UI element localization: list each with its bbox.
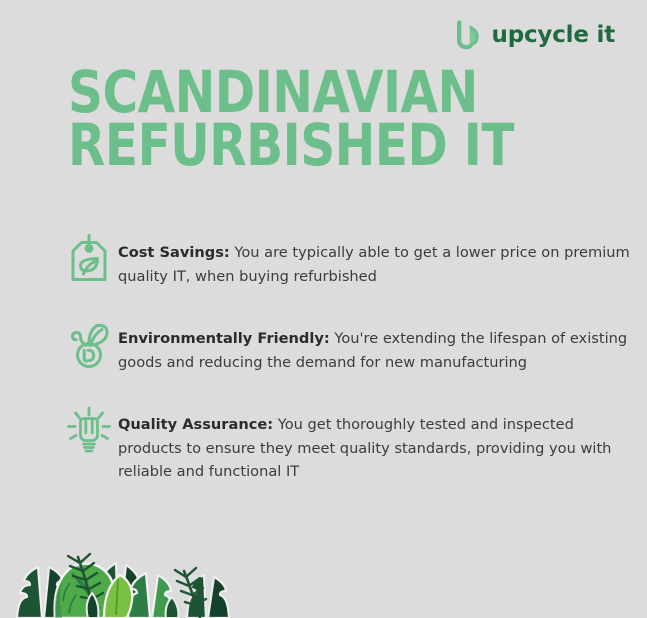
list-item-lead: Environmentally Friendly: [118,330,330,347]
list-item: Quality Assurance: You get thoroughly te… [60,404,630,484]
feature-list: Cost Savings: You are typically able to … [60,232,630,512]
list-item: Environmentally Friendly: You're extendi… [60,318,630,376]
list-item-text: Environmentally Friendly: You're extendi… [118,318,630,374]
list-item: Cost Savings: You are typically able to … [60,232,630,290]
page-title: Scandinavian Refurbished IT [68,66,548,173]
price-tag-leaf-icon [60,232,118,290]
list-item-text: Quality Assurance: You get thoroughly te… [118,404,630,484]
list-item-lead: Quality Assurance: [118,416,273,433]
brand-logo: upcycle it [456,20,615,50]
page-title-line-2: Refurbished IT [68,119,514,172]
list-item-text: Cost Savings: You are typically able to … [118,232,630,288]
list-item-lead: Cost Savings: [118,244,230,261]
brand-wordmark: upcycle it [492,24,615,47]
leaf-arrow-logo-icon [456,20,482,50]
tropical-foliage-illustration [0,523,250,618]
recycle-plant-icon [60,318,118,376]
lightbulb-idea-icon [60,404,118,462]
